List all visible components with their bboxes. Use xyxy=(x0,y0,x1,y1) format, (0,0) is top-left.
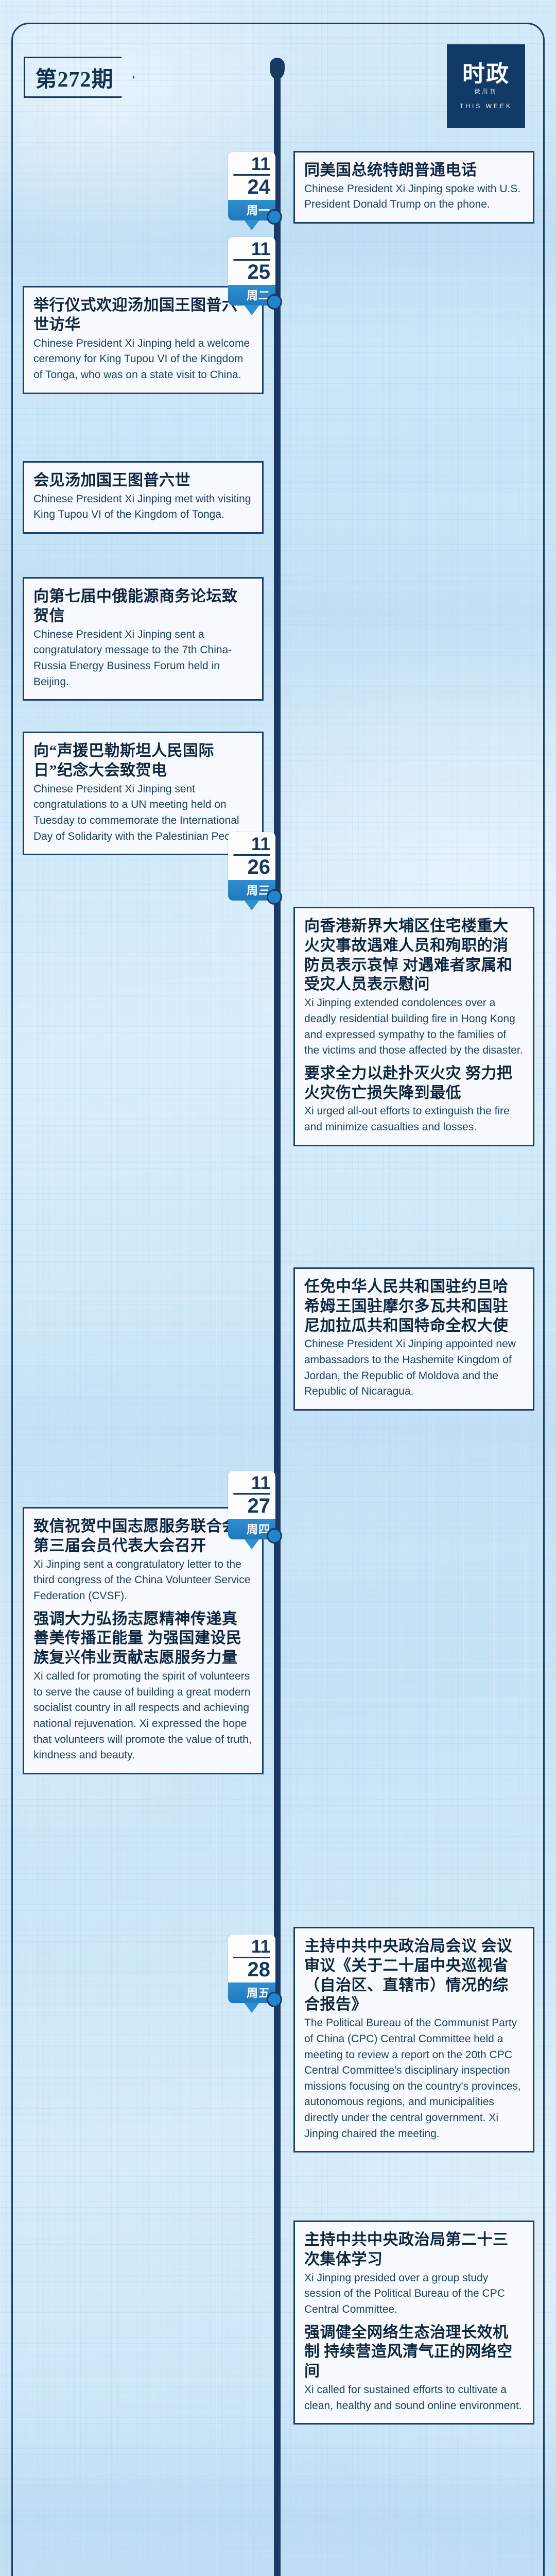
news-card: 举行仪式欢迎汤加国王图普六世访华Chinese President Xi Jin… xyxy=(23,286,264,394)
date-day: 28 xyxy=(233,1959,270,1980)
news-card: 同美国总统特朗普通电话Chinese President Xi Jinping … xyxy=(293,151,534,224)
issue-label: 第272期 xyxy=(24,57,134,98)
date-month: 11 xyxy=(233,836,270,853)
date-chip-top: 1124 xyxy=(228,152,275,200)
date-day: 26 xyxy=(233,857,270,877)
timeline-node-dot xyxy=(267,294,282,310)
news-headline-cn: 主持中共中央政治局会议 会议审议《关于二十届中央巡视省（自治区、直辖市）情况的综… xyxy=(304,1937,524,2014)
news-headline-cn: 向第七届中俄能源商务论坛致贺信 xyxy=(33,587,253,626)
news-card: 向“声援巴勒斯坦人民国际日”纪念大会致贺电Chinese President X… xyxy=(23,732,264,855)
timeline-date-chip: 1125周二 xyxy=(228,237,275,306)
date-chip-top: 1127 xyxy=(228,1471,275,1519)
date-chip-tail-icon xyxy=(244,220,259,230)
date-day: 25 xyxy=(233,262,270,282)
timeline-date-chip: 1128周五 xyxy=(228,1935,275,2003)
news-card: 向第七届中俄能源商务论坛致贺信Chinese President Xi Jinp… xyxy=(23,577,264,701)
news-summary-en: Xi Jinping extended condolences over a d… xyxy=(304,995,524,1059)
date-month: 11 xyxy=(233,1475,270,1492)
news-headline-cn: 主持中共中央政治局第二十三次集体学习 xyxy=(304,2230,524,2269)
date-chip-tail-icon xyxy=(244,305,259,315)
timeline-date-chip: 1124周一 xyxy=(228,152,275,221)
timeline-node-dot xyxy=(267,1528,282,1544)
date-day: 27 xyxy=(233,1496,270,1516)
timeline-node-dot xyxy=(267,1992,282,2007)
news-summary-en: Xi urged all-out efforts to extinguish t… xyxy=(304,1104,524,1135)
news-headline-cn: 举行仪式欢迎汤加国王图普六世访华 xyxy=(33,296,253,335)
news-headline-cn: 致信祝贺中国志愿服务联合会第三届会员代表大会召开 xyxy=(33,1517,253,1556)
news-headline-cn: 强调大力弘扬志愿精神传递真善美传播正能量 为强国建设民族复兴伟业贡献志愿服务力量 xyxy=(33,1609,253,1668)
news-summary-en: Xi called for sustained efforts to culti… xyxy=(304,2382,524,2414)
issue-badge: 第272期 xyxy=(24,57,134,98)
news-summary-en: Chinese President Xi Jinping sent congra… xyxy=(33,782,253,845)
news-summary-en: The Political Bureau of the Communist Pa… xyxy=(304,2015,524,2142)
date-month: 11 xyxy=(233,156,270,173)
logo-title-cn: 时政 xyxy=(462,63,510,86)
news-summary-en: Chinese President Xi Jinping appointed n… xyxy=(304,1336,524,1400)
news-summary-en: Chinese President Xi Jinping held a welc… xyxy=(33,336,253,383)
date-day: 24 xyxy=(233,177,270,197)
news-card: 任免中华人民共和国驻约旦哈希姆王国驻摩尔多瓦共和国驻尼加拉瓜共和国特命全权大使C… xyxy=(293,1267,534,1411)
date-chip-tail-icon xyxy=(244,900,259,910)
news-headline-cn: 强调健全网络生态治理长效机制 持续营造风清气正的网络空间 xyxy=(304,2323,524,2381)
news-summary-en: Chinese President Xi Jinping met with vi… xyxy=(33,492,253,523)
timeline-date-chip: 1126周三 xyxy=(228,832,275,901)
news-headline-cn: 要求全力以赴扑灭火灾 努力把火灾伤亡损失降到最低 xyxy=(304,1064,524,1103)
timeline-node-dot xyxy=(267,889,282,905)
news-summary-en: Xi called for promoting the spirit of vo… xyxy=(33,1669,253,1764)
date-chip-tail-icon xyxy=(244,2003,259,2013)
news-card: 主持中共中央政治局第二十三次集体学习Xi Jinping presided ov… xyxy=(293,2221,534,2425)
news-headline-cn: 向香港新界大埔区住宅楼重大火灾事故遇难人员和殉职的消防员表示哀悼 对遇难者家属和… xyxy=(304,917,524,994)
date-chip-top: 1126 xyxy=(228,832,275,880)
news-card: 致信祝贺中国志愿服务联合会第三届会员代表大会召开Xi Jinping sent … xyxy=(23,1507,264,1774)
date-month: 11 xyxy=(233,1938,270,1955)
news-headline-cn: 向“声援巴勒斯坦人民国际日”纪念大会致贺电 xyxy=(33,741,253,781)
date-chip-tail-icon xyxy=(244,1539,259,1549)
news-headline-cn: 任免中华人民共和国驻约旦哈希姆王国驻摩尔多瓦共和国驻尼加拉瓜共和国特命全权大使 xyxy=(304,1277,524,1335)
logo-subtitle-cn: 微周刊 xyxy=(475,87,498,95)
news-summary-en: Chinese President Xi Jinping spoke with … xyxy=(304,181,524,213)
timeline-date-chip: 1127周四 xyxy=(228,1471,275,1539)
date-chip-top: 1125 xyxy=(228,237,275,285)
date-month: 11 xyxy=(233,241,270,258)
news-headline-cn: 会见汤加国王图普六世 xyxy=(33,471,253,490)
logo-title-en: THIS WEEK xyxy=(460,103,512,110)
news-card: 向香港新界大埔区住宅楼重大火灾事故遇难人员和殉职的消防员表示哀悼 对遇难者家属和… xyxy=(293,907,534,1146)
timeline-node-dot xyxy=(267,209,282,225)
publication-logo: 时政 微周刊 THIS WEEK xyxy=(447,44,525,128)
date-chip-top: 1128 xyxy=(228,1935,275,1982)
news-summary-en: Xi Jinping presided over a group study s… xyxy=(304,2270,524,2318)
news-card: 主持中共中央政治局会议 会议审议《关于二十届中央巡视省（自治区、直辖市）情况的综… xyxy=(293,1927,534,2153)
poster-canvas: 第272期 时政 微周刊 THIS WEEK 1124周一1125周二1126周… xyxy=(0,0,556,2576)
news-card: 会见汤加国王图普六世Chinese President Xi Jinping m… xyxy=(23,461,264,534)
timeline-line xyxy=(274,61,281,2576)
news-summary-en: Chinese President Xi Jinping sent a cong… xyxy=(33,627,253,690)
news-summary-en: Xi Jinping sent a congratulatory letter … xyxy=(33,1557,253,1604)
news-headline-cn: 同美国总统特朗普通电话 xyxy=(304,161,524,180)
